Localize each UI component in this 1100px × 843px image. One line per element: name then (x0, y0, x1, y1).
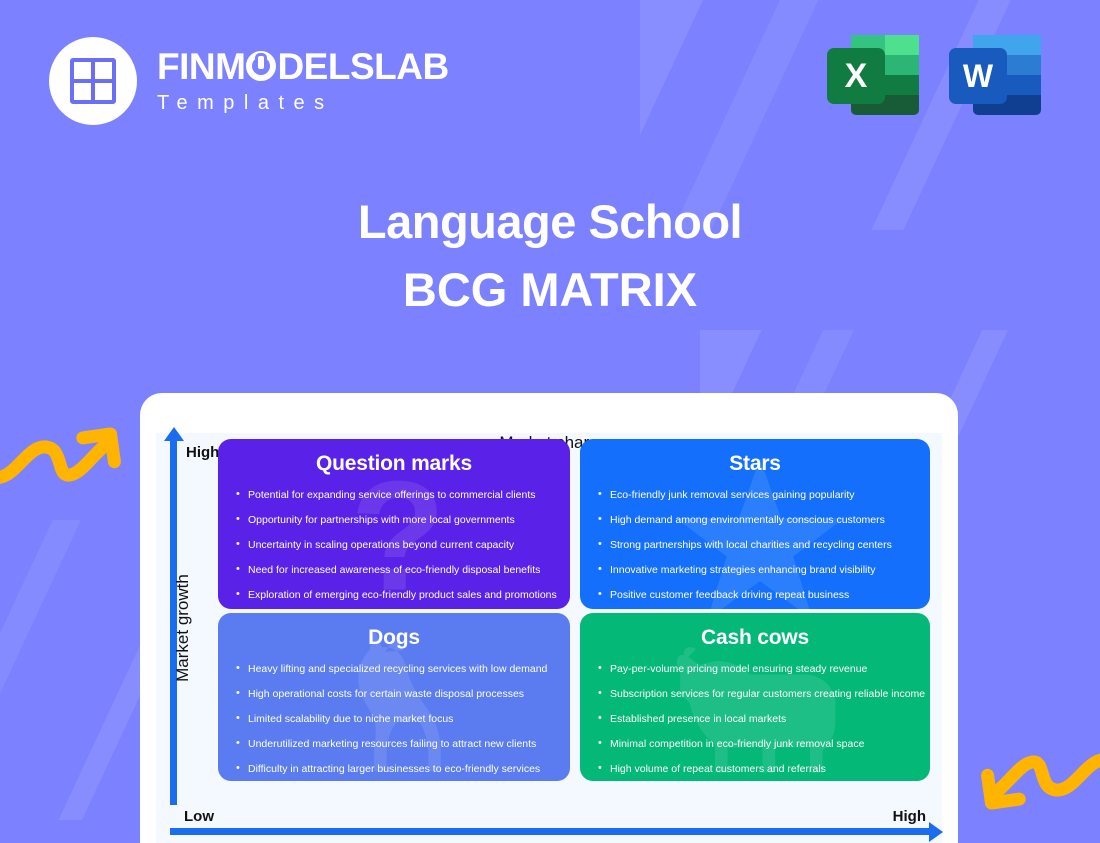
page-title: Language School BCG MATRIX (0, 196, 1100, 316)
list-item: High volume of repeat customers and refe… (596, 763, 916, 775)
list-item: Minimal competition in eco-friendly junk… (596, 738, 916, 750)
word-icon[interactable]: W (945, 31, 1045, 124)
bcg-matrix-card: High Low High Market share Market growth… (140, 393, 958, 843)
list-item: Strong partnerships with local charities… (596, 539, 916, 551)
list-item: Eco-friendly junk removal services gaini… (596, 489, 916, 501)
brand-tagline: Templates (157, 92, 449, 115)
bcg-matrix-plot: High Low High Market share Market growth… (156, 433, 942, 843)
quadrant-title: Stars (580, 439, 930, 476)
x-axis-low-label: Low (184, 808, 214, 825)
x-axis-arrow (170, 828, 930, 835)
x-axis-high-label: High (893, 808, 926, 825)
decorative-arrow-left-icon (0, 405, 127, 500)
brand-logo[interactable]: FINM DELSLAB Templates (49, 37, 449, 125)
list-item: Potential for expanding service offering… (234, 489, 556, 501)
list-item: Innovative marketing strategies enhancin… (596, 564, 916, 576)
quadrant-cash-cows[interactable]: Cash cows Pay-per-volume pricing model e… (580, 613, 930, 781)
quadrant-bullet-list: Heavy lifting and specialized recycling … (218, 663, 570, 775)
list-item: Opportunity for partnerships with more l… (234, 514, 556, 526)
quadrant-question-marks[interactable]: ? Question marks Potential for expanding… (218, 439, 570, 609)
list-item: Subscription services for regular custom… (596, 688, 916, 700)
title-line-1: Language School (0, 196, 1100, 249)
y-axis-title: Market growth (173, 543, 193, 713)
brand-name-part1: FINM (157, 48, 245, 85)
list-item: Heavy lifting and specialized recycling … (234, 663, 556, 675)
y-axis-high-label: High (186, 444, 219, 461)
decorative-arrow-right-icon (975, 742, 1100, 837)
quadrant-bullet-list: Potential for expanding service offering… (218, 489, 570, 601)
slide-canvas: FINM DELSLAB Templates X W (0, 0, 1100, 843)
quadrant-dogs[interactable]: Dogs Heavy lifting and specialized recyc… (218, 613, 570, 781)
quadrant-title: Dogs (218, 613, 570, 650)
svg-text:W: W (963, 58, 994, 94)
excel-icon[interactable]: X (823, 31, 923, 124)
brand-logo-circle (49, 37, 137, 125)
list-item: High operational costs for certain waste… (234, 688, 556, 700)
list-item: Limited scalability due to niche market … (234, 713, 556, 725)
quadrant-bullet-list: Pay-per-volume pricing model ensuring st… (580, 663, 930, 775)
brand-name: FINM DELSLAB (157, 48, 449, 85)
power-o-icon (246, 51, 276, 81)
list-item: Difficulty in attracting larger business… (234, 763, 556, 775)
list-item: Uncertainty in scaling operations beyond… (234, 539, 556, 551)
quadrant-stars[interactable]: Stars Eco-friendly junk removal services… (580, 439, 930, 609)
quadrant-title: Cash cows (580, 613, 930, 650)
quadrant-title: Question marks (218, 439, 570, 476)
quadrant-bullet-list: Eco-friendly junk removal services gaini… (580, 489, 930, 601)
brand-logo-text: FINM DELSLAB Templates (157, 48, 449, 115)
list-item: Exploration of emerging eco-friendly pro… (234, 589, 556, 601)
brand-name-part2: DELSLAB (277, 48, 448, 85)
list-item: Established presence in local markets (596, 713, 916, 725)
list-item: Need for increased awareness of eco-frie… (234, 564, 556, 576)
list-item: Positive customer feedback driving repea… (596, 589, 916, 601)
title-line-2: BCG MATRIX (0, 264, 1100, 317)
list-item: Pay-per-volume pricing model ensuring st… (596, 663, 916, 675)
list-item: High demand among environmentally consci… (596, 514, 916, 526)
list-item: Underutilized marketing resources failin… (234, 738, 556, 750)
grid-2x2-icon (70, 58, 116, 104)
svg-text:X: X (845, 57, 868, 95)
